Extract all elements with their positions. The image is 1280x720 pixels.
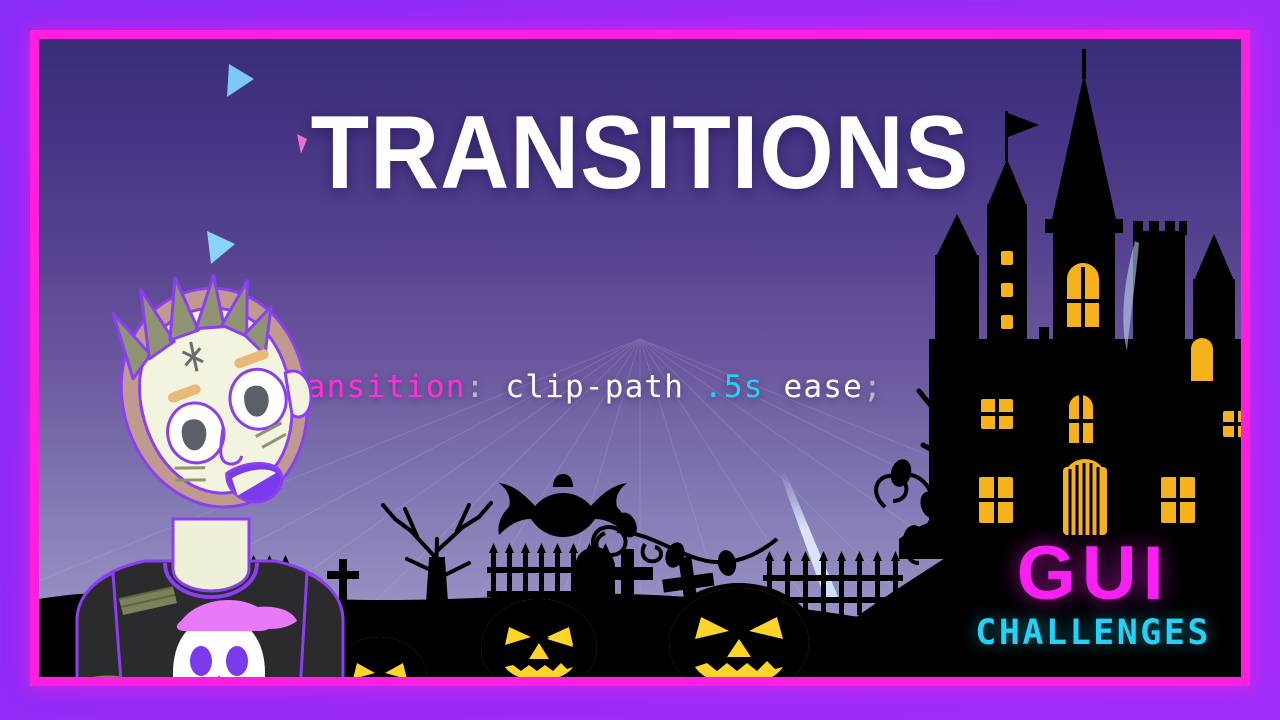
code-value-property: clip-path — [505, 369, 684, 405]
neon-frame: TRANSITIONS transition: clip-path .5s ea… — [30, 30, 1250, 686]
gui-challenges-logo: GUI CHALLENGES — [975, 536, 1211, 651]
grave-cross-left — [602, 549, 653, 621]
avatar-head — [99, 269, 331, 526]
code-easing: ease — [784, 369, 863, 405]
code-semicolon: ; — [863, 369, 883, 405]
castle-windows — [979, 251, 1241, 535]
confetti-blue-2 — [207, 231, 235, 264]
graveyard — [327, 547, 720, 632]
code-colon: : — [466, 369, 486, 405]
avatar — [61, 269, 361, 677]
code-duration: .5s — [704, 369, 764, 405]
jack-o-lantern-right — [659, 583, 819, 677]
ghost-wisp — [1123, 241, 1139, 351]
tombstone — [575, 547, 615, 607]
logo-line-challenges: CHALLENGES — [975, 616, 1211, 651]
curly-vines — [593, 475, 983, 565]
slide-stage: TRANSITIONS transition: clip-path .5s ea… — [0, 0, 1280, 720]
jack-o-lantern-left — [473, 595, 605, 677]
halloween-scene: TRANSITIONS transition: clip-path .5s ea… — [39, 39, 1241, 677]
page-title: TRANSITIONS — [87, 101, 1193, 205]
dead-tree-left — [383, 503, 491, 617]
logo-line-gui: GUI — [975, 536, 1211, 612]
vine-leaves — [613, 457, 1004, 577]
confetti-blue-1 — [227, 64, 254, 97]
grave-cross-right — [659, 554, 720, 632]
